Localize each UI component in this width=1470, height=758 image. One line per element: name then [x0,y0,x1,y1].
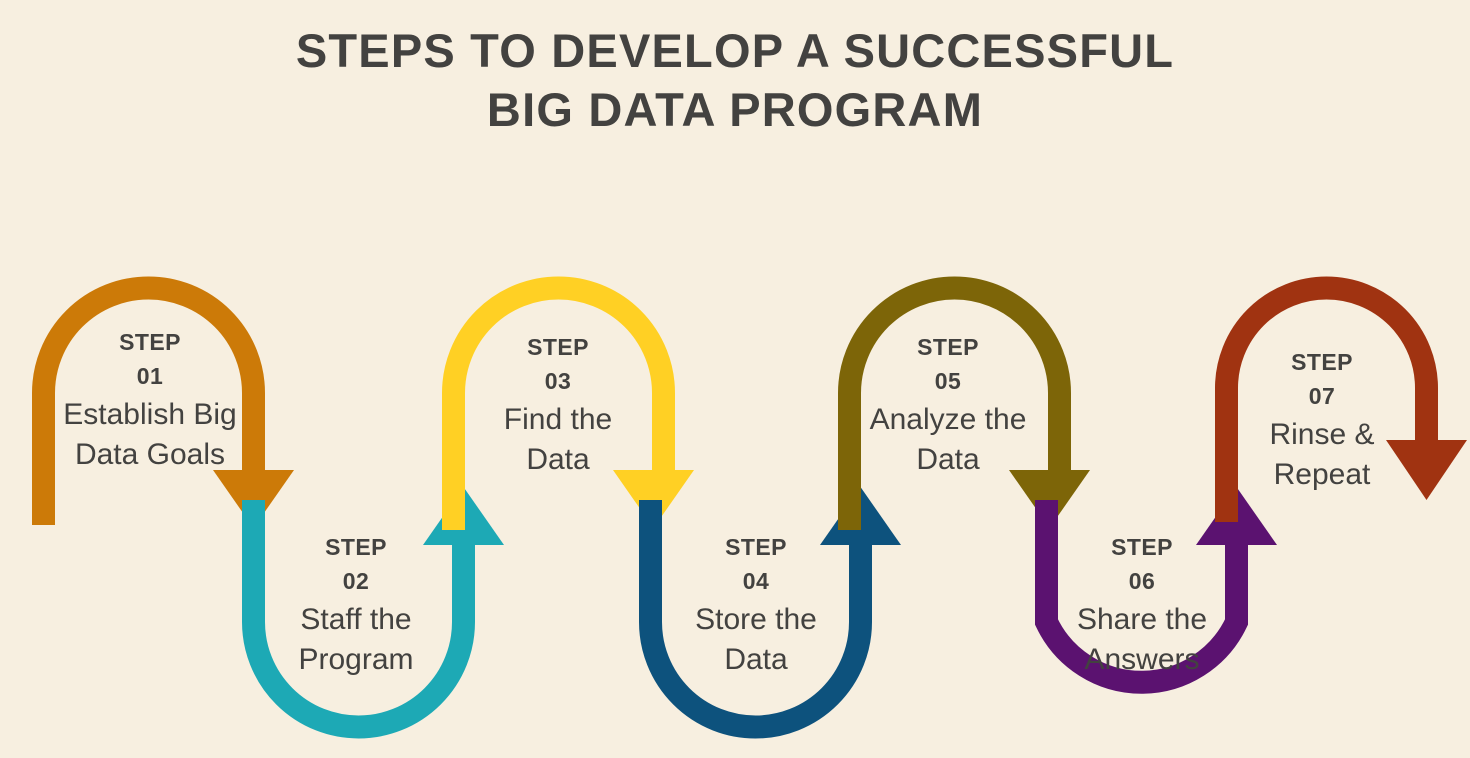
step-arrow-05 [850,288,1091,530]
step-arrow-01 [44,288,295,528]
step-arrow-02 [254,487,505,727]
step-arrow-04 [651,487,902,727]
step-arrow-07 [1227,288,1468,522]
step-arrow-03 [454,288,695,530]
infographic-canvas: STEPS TO DEVELOP A SUCCESSFUL BIG DATA P… [0,0,1470,758]
process-flow-arrows [0,0,1470,758]
step-arrow-06 [1047,487,1278,682]
